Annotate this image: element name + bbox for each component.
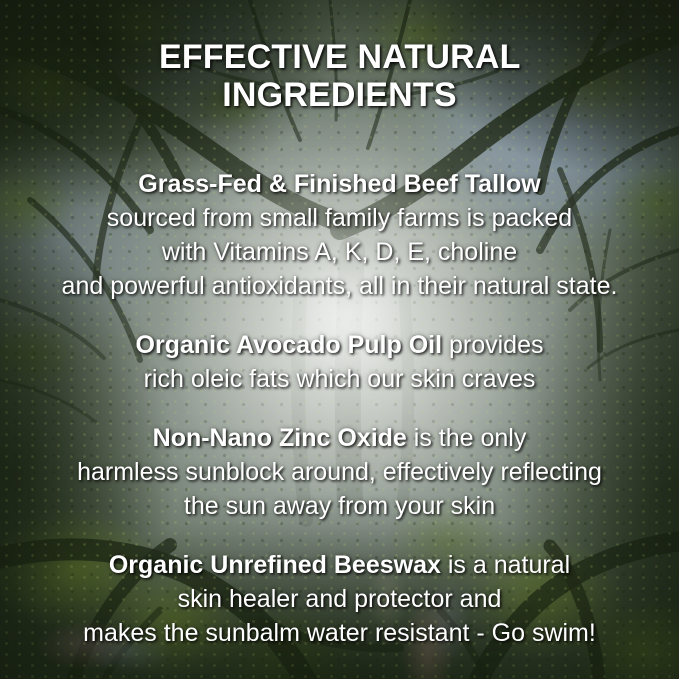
ingredient-body-line: skin healer and protector and (0, 582, 679, 616)
ingredient-heading-trailing: is a natural (441, 551, 570, 579)
ingredient-heading-trailing: provides (442, 331, 543, 359)
ingredient-body-line: harmless sunblock around, effectively re… (0, 455, 679, 489)
text-overlay: EFFECTIVE NATURAL INGREDIENTS Grass-Fed … (0, 0, 679, 679)
ingredient-list: Grass-Fed & Finished Beef Tallow sourced… (0, 167, 679, 650)
ingredient-avocado-oil: Organic Avocado Pulp Oil provides rich o… (0, 328, 679, 396)
ingredient-name: Organic Unrefined Beeswax (109, 551, 441, 579)
ingredient-heading-line: Organic Unrefined Beeswax is a natural (0, 548, 679, 582)
ingredient-body-line: makes the sunbalm water resistant - Go s… (0, 616, 679, 650)
ingredient-name: Grass-Fed & Finished Beef Tallow (138, 170, 540, 198)
ingredient-name: Non-Nano Zinc Oxide (153, 424, 407, 452)
ingredient-heading-line: Non-Nano Zinc Oxide is the only (0, 421, 679, 455)
ingredient-body-line: sourced from small family farms is packe… (0, 201, 679, 235)
ingredient-heading-line: Grass-Fed & Finished Beef Tallow (0, 167, 679, 201)
page-title: EFFECTIVE NATURAL INGREDIENTS (130, 38, 550, 114)
ingredient-body-line: with Vitamins A, K, D, E, choline (0, 235, 679, 269)
ingredient-beeswax: Organic Unrefined Beeswax is a natural s… (0, 548, 679, 650)
ingredient-body-line: rich oleic fats which our skin craves (0, 362, 679, 396)
ingredient-heading-line: Organic Avocado Pulp Oil provides (0, 328, 679, 362)
ingredient-heading-trailing: is the only (407, 424, 527, 452)
page-title-line-2: INGREDIENTS (222, 76, 457, 114)
ingredient-beef-tallow: Grass-Fed & Finished Beef Tallow sourced… (0, 167, 679, 303)
ingredient-name: Organic Avocado Pulp Oil (136, 331, 443, 359)
page-title-line-1: EFFECTIVE NATURAL (159, 38, 520, 76)
ingredient-zinc-oxide: Non-Nano Zinc Oxide is the only harmless… (0, 421, 679, 523)
ingredient-body-line: and powerful antioxidants, all in their … (0, 269, 679, 303)
ingredients-graphic: EFFECTIVE NATURAL INGREDIENTS Grass-Fed … (0, 0, 679, 679)
ingredient-body-line: the sun away from your skin (0, 489, 679, 523)
